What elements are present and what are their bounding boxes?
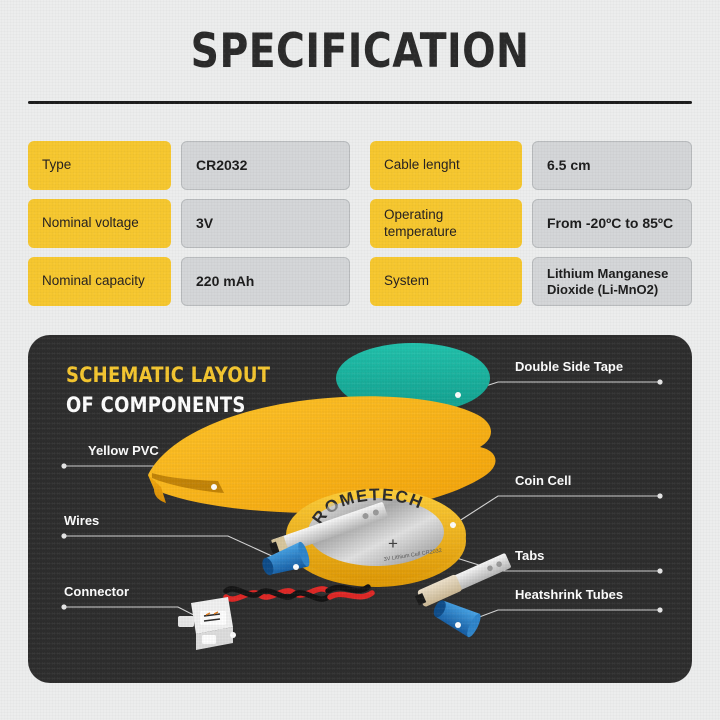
page-title: SPECIFICATION: [25, 24, 695, 79]
callout-label-yellow-pvc: Yellow PVC: [88, 443, 159, 458]
spec-value: 6.5 cm: [532, 141, 692, 190]
spec-value: 220 mAh: [181, 257, 350, 306]
callout-label-wires: Wires: [64, 513, 99, 528]
spec-value: From -20ºC to 85ºC: [532, 199, 692, 248]
table-row: System Lithium Manganese Dioxide (Li-MnO…: [370, 257, 692, 306]
callout-label-tabs: Tabs: [515, 548, 544, 563]
callout-label-coin-cell: Coin Cell: [515, 473, 571, 488]
spec-key: Cable lenght: [370, 141, 522, 190]
table-row: Type CR2032: [28, 141, 350, 190]
spec-key: Type: [28, 141, 171, 190]
wires-shape: [226, 587, 372, 599]
schematic-panel: SCHEMATIC LAYOUT OF COMPONENTS: [28, 335, 692, 683]
spec-value: CR2032: [181, 141, 350, 190]
callout-label-connector: Connector: [64, 584, 129, 599]
table-row: Nominal voltage 3V: [28, 199, 350, 248]
connector-shape: [178, 597, 233, 650]
battery-polarity-text: +: [388, 534, 398, 553]
yellow-pvc-shape: [148, 396, 495, 513]
spec-key: Nominal capacity: [28, 257, 171, 306]
spec-key: System: [370, 257, 522, 306]
heatshrink-tube-blue-right: [430, 595, 484, 639]
exploded-diagram: ROMETECH + 3V Lithium Cell CR2032: [28, 335, 692, 683]
spec-key: Nominal voltage: [28, 199, 171, 248]
spec-column-right: Cable lenght 6.5 cm Operating temperatur…: [370, 141, 692, 315]
spec-value: Lithium Manganese Dioxide (Li-MnO2): [532, 257, 692, 306]
callout-label-double-side-tape: Double Side Tape: [515, 359, 623, 374]
spec-column-left: Type CR2032 Nominal voltage 3V Nominal c…: [28, 141, 350, 315]
spec-key: Operating temperature: [370, 199, 522, 248]
title-divider: [28, 101, 692, 104]
callout-label-heatshrink-tubes: Heatshrink Tubes: [515, 587, 623, 602]
table-row: Nominal capacity 220 mAh: [28, 257, 350, 306]
spec-value: 3V: [181, 199, 350, 248]
table-row: Cable lenght 6.5 cm: [370, 141, 692, 190]
table-row: Operating temperature From -20ºC to 85ºC: [370, 199, 692, 248]
